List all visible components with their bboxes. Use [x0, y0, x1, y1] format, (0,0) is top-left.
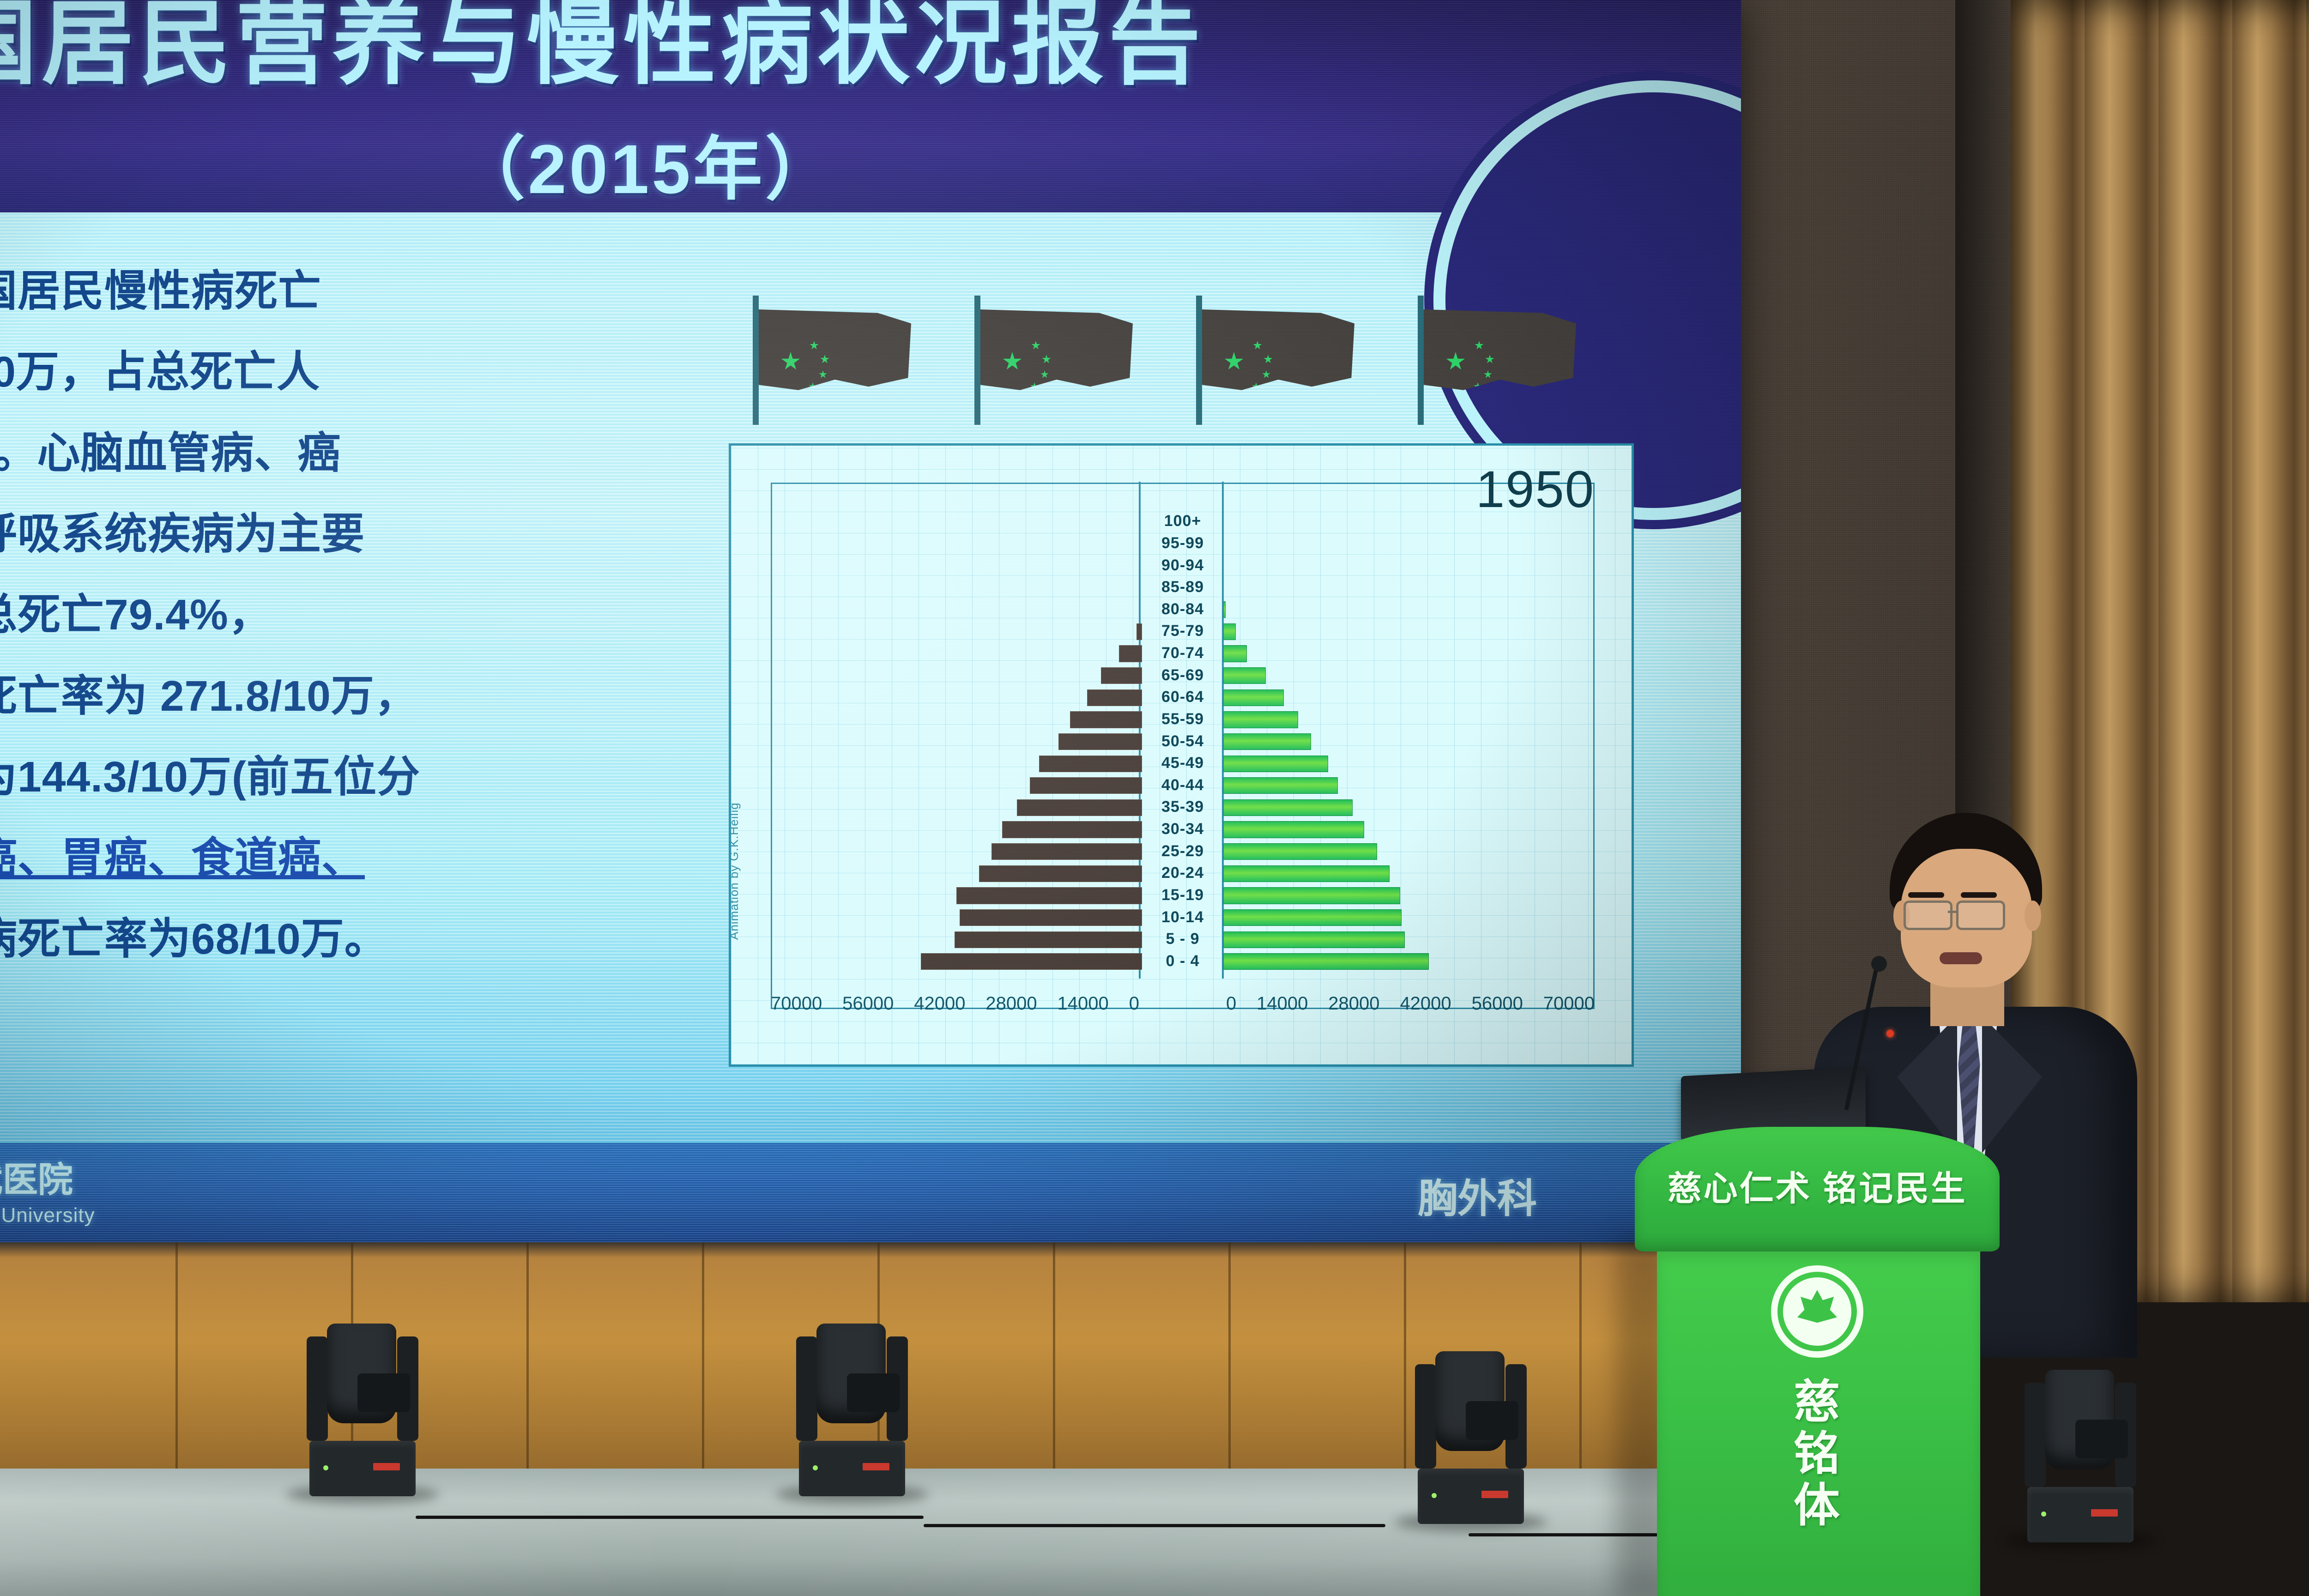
- flag-cloth: [1202, 309, 1354, 397]
- light-head: [327, 1324, 396, 1423]
- pyramid-row: 20-24: [771, 862, 1595, 884]
- pyramid-female-cell: [1223, 953, 1595, 969]
- pyramid-row: 25-29: [771, 840, 1595, 862]
- conference-hall-photo: 国居民营养与慢性病状况报告 （2015年） 全国居民慢性病死亡 8/10万，占总…: [0, 0, 2309, 1596]
- slide-text-line-9: 疾病死亡率为68/10万。: [0, 907, 651, 972]
- pyramid-male-cell: [771, 557, 1142, 573]
- flag-cloth: [980, 309, 1133, 397]
- flag-star-3: [1040, 370, 1049, 379]
- light-yoke-left: [796, 1336, 817, 1441]
- pyramid-age-label: 75-79: [1142, 622, 1223, 640]
- flag-cloth: [1424, 309, 1576, 397]
- flag-star-2: [1485, 355, 1494, 364]
- pyramid-female-bar: [1223, 689, 1284, 706]
- slide-text-line-6: 病死亡率为 271.8/10万，: [0, 664, 651, 729]
- pyramid-female-cell: [1223, 799, 1595, 815]
- pyramid-row: 70-74: [771, 642, 1595, 665]
- slide-text-line-7: 率为144.3/10万(前五位分: [0, 744, 651, 810]
- chart-axis-spacer: [1142, 993, 1223, 1035]
- pyramid-female-bar: [1223, 777, 1338, 794]
- pyramid-male-cell: [771, 733, 1142, 749]
- pyramid-row: 60-64: [771, 686, 1595, 708]
- pyramid-age-label: 70-74: [1142, 644, 1223, 662]
- flag-pole: [753, 296, 759, 425]
- ciming-leaf-logo-icon: [1771, 1265, 1863, 1358]
- pyramid-male-bar: [1017, 799, 1142, 816]
- pyramid-row: 15-19: [771, 884, 1595, 907]
- flag-star-4: [1030, 382, 1039, 391]
- pyramid-age-label: 20-24: [1142, 864, 1223, 882]
- light-head: [1435, 1351, 1505, 1451]
- pyramid-row: 50-54: [771, 730, 1595, 752]
- pyramid-row: 40-44: [771, 774, 1595, 797]
- pyramid-female-cell: [1223, 667, 1595, 683]
- chart-xtick-label: 28000: [985, 993, 1037, 1035]
- pyramid-male-cell: [771, 953, 1142, 969]
- speaker-ear-right: [2025, 901, 2041, 931]
- pyramid-female-cell: [1223, 623, 1595, 639]
- pyramid-female-cell: [1223, 580, 1595, 595]
- light-base: [1418, 1469, 1524, 1524]
- pyramid-age-label: 0 - 4: [1142, 952, 1223, 970]
- microphone-capsule-icon: [1871, 956, 1887, 972]
- light-base: [309, 1441, 416, 1496]
- pyramid-row: 30-34: [771, 818, 1595, 840]
- light-head: [816, 1324, 886, 1423]
- speaker-glasses-right-lens: [1956, 901, 2005, 930]
- light-power-led: [1432, 1493, 1437, 1498]
- footer-institution-cn: 武医院: [0, 1161, 73, 1200]
- pyramid-male-bar: [1087, 689, 1142, 706]
- pyramid-male-bar: [1070, 711, 1142, 728]
- pyramid-male-bar: [1039, 756, 1142, 772]
- pyramid-male-cell: [771, 843, 1142, 859]
- pyramid-female-cell: [1223, 843, 1595, 859]
- light-base: [2027, 1487, 2134, 1542]
- pyramid-male-bar: [960, 909, 1142, 926]
- speaker-mouth: [1940, 952, 1982, 964]
- pyramid-female-cell: [1223, 514, 1595, 529]
- flag-pole: [1196, 296, 1202, 425]
- pyramid-female-bar: [1223, 821, 1364, 838]
- chart-xtick-label: 14000: [1058, 993, 1109, 1035]
- pyramid-female-bar: [1223, 623, 1236, 640]
- flag-star-1: [1475, 341, 1484, 350]
- pyramid-female-cell: [1223, 711, 1595, 727]
- chart-xtick-label: 70000: [1543, 993, 1595, 1035]
- pyramid-male-cell: [771, 645, 1142, 661]
- pyramid-age-label: 55-59: [1142, 710, 1223, 728]
- pyramid-age-label: 80-84: [1142, 600, 1223, 618]
- chart-xtick-label: 56000: [842, 993, 894, 1035]
- flag-pole: [1418, 296, 1424, 425]
- light-lens: [357, 1373, 410, 1412]
- pyramid-male-cell: [771, 514, 1142, 529]
- light-yoke-left: [307, 1336, 328, 1441]
- chinese-flag-icon: [1418, 296, 1584, 425]
- pyramid-male-cell: [771, 821, 1142, 837]
- speaker-glasses-left-lens: [1904, 901, 1952, 930]
- pyramid-male-cell: [771, 756, 1142, 771]
- speaker-eyebrow-right: [1961, 892, 1997, 898]
- podium: 慈心仁术 铭记民生 慈铭体: [1635, 1127, 2000, 1596]
- chinese-flag-icon: [1196, 296, 1362, 425]
- slide-text-line-4: 性呼吸系统疾病为主要: [0, 502, 651, 567]
- pyramid-age-label: 85-89: [1142, 578, 1223, 596]
- speaker-eyebrow-left: [1908, 892, 1944, 898]
- flag-pole: [974, 296, 980, 425]
- speaker-glasses-bridge: [1948, 911, 1957, 913]
- pyramid-female-cell: [1223, 535, 1595, 551]
- pyramid-female-bar: [1223, 756, 1328, 772]
- pyramid-row: 5 - 9: [771, 928, 1595, 950]
- pyramid-male-bar: [1002, 821, 1142, 838]
- pyramid-row: 75-79: [771, 620, 1595, 642]
- pyramid-age-label: 15-19: [1142, 886, 1223, 904]
- moving-head-light-4: [2023, 1367, 2138, 1542]
- light-label-sticker: [2091, 1509, 2118, 1517]
- slide-text-line-8: 肝癌、胃癌、食道癌、: [0, 826, 651, 891]
- pyramid-male-cell: [771, 689, 1142, 705]
- slide-text-block: 全国居民慢性病死亡 8/10万，占总死亡人 6%。心脑血管病、癌 性呼吸系统疾病…: [0, 259, 651, 987]
- pyramid-female-bar: [1223, 733, 1311, 750]
- pyramid-row: 95-99: [771, 532, 1595, 555]
- chart-xtick-label: 14000: [1257, 993, 1308, 1035]
- light-power-led: [813, 1465, 818, 1470]
- light-yoke-left: [1415, 1364, 1436, 1469]
- light-yoke-left: [2025, 1383, 2046, 1487]
- flag-star-large: [781, 352, 800, 371]
- chinese-flag-icon: [753, 296, 919, 425]
- pyramid-female-bar: [1223, 909, 1402, 926]
- pyramid-age-label: 45-49: [1142, 754, 1223, 772]
- pyramid-female-bar: [1223, 953, 1429, 970]
- slide-text-line-5: 占总死亡79.4%，: [0, 582, 651, 647]
- light-label-sticker: [863, 1463, 889, 1470]
- pyramid-rows: 100+95-9990-9485-8980-8475-7970-7465-696…: [771, 510, 1595, 972]
- pyramid-female-cell: [1223, 756, 1595, 771]
- flag-star-2: [1042, 355, 1051, 364]
- chart-xtick-label: 42000: [914, 993, 965, 1035]
- pyramid-age-label: 50-54: [1142, 732, 1223, 750]
- pyramid-female-bar: [1223, 865, 1390, 882]
- chart-xticks-right: 01400028000420005600070000: [1223, 993, 1595, 1035]
- flag-star-1: [810, 341, 819, 350]
- light-power-led: [323, 1465, 328, 1470]
- slide-text-line-3: 6%。心脑血管病、癌: [0, 421, 651, 486]
- pyramid-male-bar: [1058, 733, 1142, 750]
- pyramid-row: 45-49: [771, 752, 1595, 774]
- pyramid-male-bar: [1136, 623, 1142, 640]
- moving-head-light-2: [794, 1321, 910, 1496]
- flag-star-4: [1474, 382, 1482, 391]
- pyramid-female-bar: [1223, 799, 1353, 816]
- pyramid-female-bar: [1223, 711, 1298, 728]
- pyramid-row: 80-84: [771, 598, 1595, 621]
- pyramid-age-label: 90-94: [1142, 556, 1223, 574]
- chinese-flag-row: [753, 296, 1584, 425]
- flag-star-2: [820, 355, 829, 364]
- pyramid-male-bar: [991, 843, 1142, 860]
- flag-star-large: [1003, 352, 1022, 371]
- pyramid-female-bar: [1223, 601, 1226, 618]
- flag-star-4: [809, 382, 817, 391]
- chart-x-axis: 70000560004200028000140000 0140002800042…: [771, 993, 1595, 1035]
- flag-star-3: [819, 370, 827, 379]
- pyramid-row: 100+: [771, 510, 1595, 532]
- flag-star-3: [1262, 370, 1270, 379]
- chart-xtick-label: 42000: [1400, 993, 1451, 1035]
- podium-brand-vertical: 慈铭体: [1771, 1376, 1863, 1531]
- stage-cable-2: [924, 1524, 1385, 1527]
- pyramid-age-label: 95-99: [1142, 534, 1223, 552]
- pyramid-age-label: 40-44: [1142, 776, 1223, 794]
- pyramid-female-cell: [1223, 887, 1595, 903]
- pyramid-male-cell: [771, 580, 1142, 595]
- pyramid-row: 90-94: [771, 554, 1595, 576]
- pyramid-male-bar: [1101, 667, 1142, 684]
- pyramid-female-cell: [1223, 821, 1595, 837]
- pyramid-age-label: 5 - 9: [1142, 930, 1223, 948]
- pyramid-age-label: 25-29: [1142, 842, 1223, 860]
- moving-head-light-3: [1413, 1348, 1529, 1524]
- chart-xtick-label: 28000: [1328, 993, 1379, 1035]
- pyramid-male-cell: [771, 777, 1142, 793]
- slide-title: 国居民营养与慢性病状况报告: [0, 0, 1741, 97]
- pyramid-age-label: 60-64: [1142, 688, 1223, 706]
- pyramid-male-bar: [955, 931, 1142, 948]
- flag-star-1: [1031, 341, 1040, 350]
- pyramid-female-cell: [1223, 931, 1595, 947]
- pyramid-row: 65-69: [771, 664, 1595, 686]
- light-base: [799, 1441, 905, 1496]
- pyramid-male-bar: [1119, 645, 1142, 662]
- chinese-flag-icon: [974, 296, 1141, 425]
- pyramid-female-bar: [1223, 887, 1400, 904]
- projection-screen: 国居民营养与慢性病状况报告 （2015年） 全国居民慢性病死亡 8/10万，占总…: [0, 0, 1741, 1242]
- pyramid-male-bar: [979, 865, 1142, 882]
- pyramid-row: 35-39: [771, 796, 1595, 818]
- pyramid-male-cell: [771, 667, 1142, 683]
- moving-head-light-1: [305, 1321, 420, 1496]
- pyramid-male-cell: [771, 535, 1142, 551]
- pyramid-row: 10-14: [771, 906, 1595, 928]
- flag-cloth: [759, 309, 911, 397]
- pyramid-male-cell: [771, 887, 1142, 903]
- light-lens: [1466, 1401, 1518, 1440]
- slide-footer-band: 武医院 cal University 胸外科: [0, 1143, 1741, 1242]
- stage-cable-1: [416, 1516, 924, 1519]
- pyramid-female-cell: [1223, 865, 1595, 881]
- pyramid-female-cell: [1223, 645, 1595, 661]
- pyramid-male-cell: [771, 865, 1142, 881]
- chart-xticks-left: 70000560004200028000140000: [771, 993, 1142, 1035]
- flag-star-4: [1252, 382, 1260, 391]
- chart-xtick-label: 0: [1226, 993, 1236, 1035]
- pyramid-male-cell: [771, 909, 1142, 925]
- flag-star-large: [1446, 352, 1465, 371]
- slide-text-line-2: 8/10万，占总死亡人: [0, 339, 651, 405]
- pyramid-age-label: 65-69: [1142, 666, 1223, 684]
- pyramid-female-cell: [1223, 689, 1595, 705]
- chart-credit: Animation by G.K.Heilig: [727, 802, 741, 940]
- pyramid-female-bar: [1223, 645, 1247, 662]
- pyramid-female-cell: [1223, 777, 1595, 793]
- pyramid-row: 0 - 4: [771, 950, 1595, 973]
- pyramid-row: 55-59: [771, 708, 1595, 731]
- slide-footer-department: 胸外科: [1418, 1166, 1537, 1224]
- pyramid-male-cell: [771, 623, 1142, 639]
- pyramid-age-label: 35-39: [1142, 798, 1223, 816]
- pyramid-male-cell: [771, 799, 1142, 815]
- flag-star-large: [1224, 352, 1244, 371]
- chart-xtick-label: 0: [1129, 993, 1139, 1035]
- pyramid-male-bar: [956, 887, 1142, 904]
- slide-subtitle: （2015年）: [277, 113, 1016, 213]
- pyramid-female-cell: [1223, 601, 1595, 617]
- flag-star-3: [1484, 370, 1492, 379]
- chart-xtick-label: 70000: [771, 993, 822, 1035]
- pyramid-age-label: 30-34: [1142, 820, 1223, 838]
- pyramid-female-cell: [1223, 909, 1595, 925]
- pyramid-female-bar: [1223, 667, 1266, 684]
- population-pyramid-chart: 1950 100+95-9990-9485-8980-8475-7970-746…: [729, 443, 1634, 1067]
- pyramid-female-cell: [1223, 733, 1595, 749]
- light-label-sticker: [1481, 1491, 1508, 1498]
- pyramid-male-cell: [771, 711, 1142, 727]
- flag-star-2: [1263, 355, 1273, 364]
- light-lens: [847, 1373, 900, 1412]
- chart-xtick-label: 56000: [1472, 993, 1523, 1035]
- slide-text-line-1: 全国居民慢性病死亡: [0, 259, 651, 324]
- pyramid-female-cell: [1223, 557, 1595, 573]
- pyramid-male-cell: [771, 931, 1142, 947]
- pyramid-female-bar: [1223, 843, 1377, 860]
- light-power-led: [2041, 1511, 2046, 1517]
- pyramid-male-bar: [921, 953, 1142, 970]
- pyramid-male-bar: [1030, 777, 1142, 794]
- light-label-sticker: [373, 1463, 400, 1470]
- microphone-led-icon: [1886, 1030, 1894, 1037]
- light-lens: [2075, 1420, 2128, 1458]
- slide-footer-institution: 武医院 cal University: [0, 1151, 95, 1227]
- pyramid-female-bar: [1223, 931, 1405, 948]
- footer-institution-en: cal University: [0, 1204, 95, 1227]
- pyramid-age-label: 100+: [1142, 512, 1223, 530]
- flag-star-1: [1253, 341, 1262, 350]
- light-head: [2045, 1370, 2114, 1469]
- pyramid-age-label: 10-14: [1142, 908, 1223, 926]
- pyramid-male-cell: [771, 601, 1142, 617]
- pyramid-row: 85-89: [771, 576, 1595, 598]
- podium-slogan: 慈心仁术 铭记民生: [1635, 1161, 2000, 1210]
